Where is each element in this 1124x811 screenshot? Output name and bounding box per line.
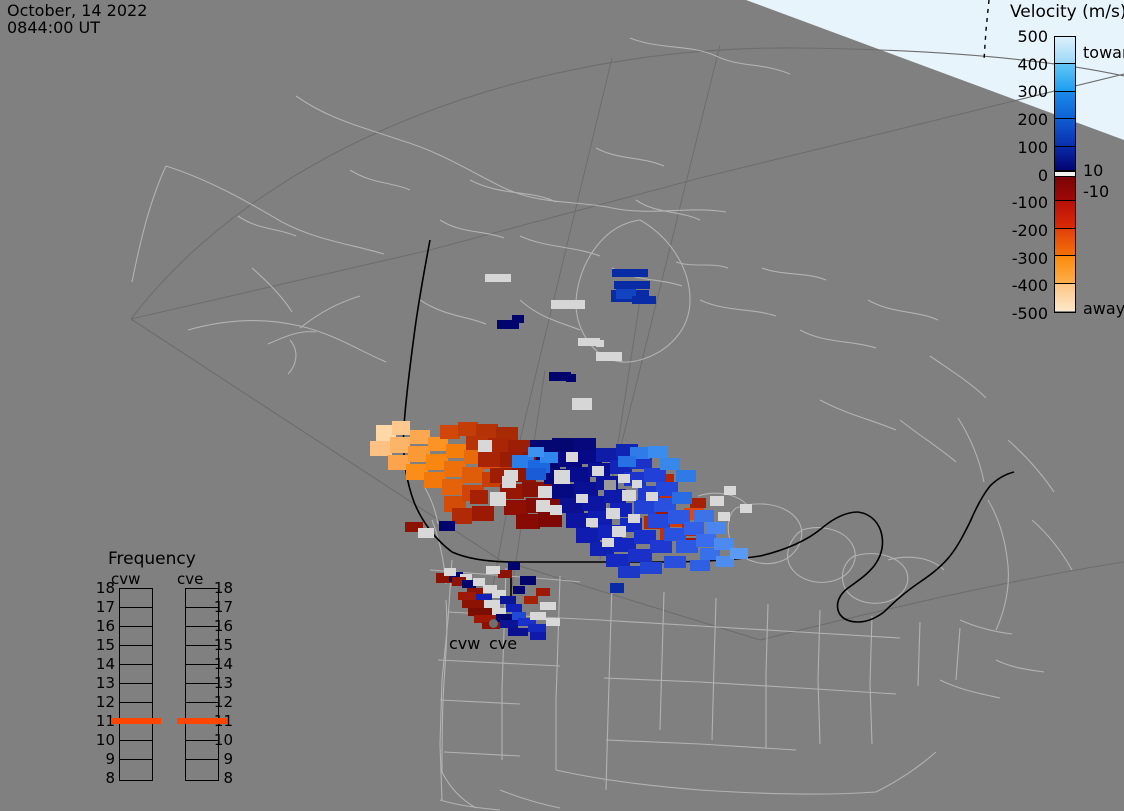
frequency-column-label-cve: cve (177, 570, 203, 588)
frequency-cell (120, 684, 152, 703)
radar-origin-dot (489, 619, 498, 628)
colorbar-tick--200: -200 (1000, 221, 1048, 240)
colorbar-tick-200: 200 (1000, 110, 1048, 129)
frequency-scale-label-16: 16 (89, 617, 115, 635)
colorbar-band-200-300 (1055, 92, 1075, 119)
frequency-scale-label-13: 13 (207, 674, 233, 692)
frequency-marker-cve (177, 718, 227, 724)
frequency-cell (120, 741, 152, 760)
frequency-scale-label-12: 12 (207, 693, 233, 711)
frequency-bar-cvw[interactable] (119, 588, 153, 781)
frequency-scale-label-12: 12 (89, 693, 115, 711)
colorbar-band--300--200 (1055, 229, 1075, 256)
frequency-cell (120, 627, 152, 646)
frequency-scale-label-16: 16 (207, 617, 233, 635)
colorbar-tick-500: 500 (1000, 27, 1048, 46)
colorbar-lower-threshold-label: -10 (1083, 182, 1109, 201)
frequency-scale-label-15: 15 (89, 636, 115, 654)
frequency-scale-label-17: 17 (207, 598, 233, 616)
velocity-data-cells (0, 0, 1124, 811)
colorbar-tick--300: -300 (1000, 249, 1048, 268)
site-label-cve: cve (489, 634, 517, 653)
frequency-scale-label-17: 17 (89, 598, 115, 616)
colorbar-away-label: away (1083, 299, 1124, 318)
colorbar-tick-300: 300 (1000, 82, 1048, 101)
frequency-scale-label-18: 18 (207, 579, 233, 597)
colorbar-title: Velocity (m/s) (1010, 2, 1124, 22)
colorbar-tick--400: -400 (1000, 276, 1048, 295)
frequency-scale-label-8: 8 (207, 769, 233, 787)
frequency-legend-title: Frequency (108, 549, 196, 569)
frequency-scale-label-18: 18 (89, 579, 115, 597)
frequency-cell (120, 722, 152, 741)
colorbar-tick-100: 100 (1000, 138, 1048, 157)
timestamp: October, 14 20220844:00 UT (7, 2, 147, 36)
colorbar-band-300-400 (1055, 64, 1075, 91)
frequency-scale-label-13: 13 (89, 674, 115, 692)
colorbar-upper-threshold-label: 10 (1083, 161, 1103, 180)
frequency-scale-label-9: 9 (207, 750, 233, 768)
frequency-scale-label-9: 9 (89, 750, 115, 768)
colorbar-band-100-200 (1055, 119, 1075, 146)
colorbar-toward-label: toward (1083, 43, 1124, 62)
radar-velocity-map: October, 14 20220844:00 UT Velocity (m/s… (0, 0, 1124, 811)
colorbar-band-10-100 (1055, 147, 1075, 172)
frequency-scale-label-14: 14 (89, 655, 115, 673)
frequency-cell (120, 589, 152, 608)
frequency-column-label-cvw: cvw (111, 570, 140, 588)
site-label-cvw: cvw (449, 634, 480, 653)
frequency-cell (120, 646, 152, 665)
frequency-cell (120, 760, 152, 779)
colorbar-band--200--100 (1055, 201, 1075, 228)
colorbar-tick--100: -100 (1000, 193, 1048, 212)
colorbar-tick-400: 400 (1000, 55, 1048, 74)
frequency-scale-label-8: 8 (89, 769, 115, 787)
frequency-cell (120, 665, 152, 684)
frequency-cell (120, 608, 152, 627)
frequency-scale-label-10: 10 (207, 731, 233, 749)
colorbar-band-400-500 (1055, 37, 1075, 64)
colorbar-band--100--10 (1055, 177, 1075, 202)
frequency-scale-label-14: 14 (207, 655, 233, 673)
colorbar-tick--500: -500 (1000, 304, 1048, 323)
timestamp-time: 0844:00 UT (7, 18, 100, 37)
frequency-marker-cvw (111, 718, 161, 724)
velocity-cells-toward (504, 438, 752, 578)
velocity-colorbar[interactable] (1054, 36, 1076, 313)
colorbar-band--500--400 (1055, 284, 1075, 311)
frequency-scale-label-15: 15 (207, 636, 233, 654)
colorbar-tick-0: 0 (1000, 166, 1048, 185)
frequency-scale-label-10: 10 (89, 731, 115, 749)
colorbar-band--400--300 (1055, 256, 1075, 283)
